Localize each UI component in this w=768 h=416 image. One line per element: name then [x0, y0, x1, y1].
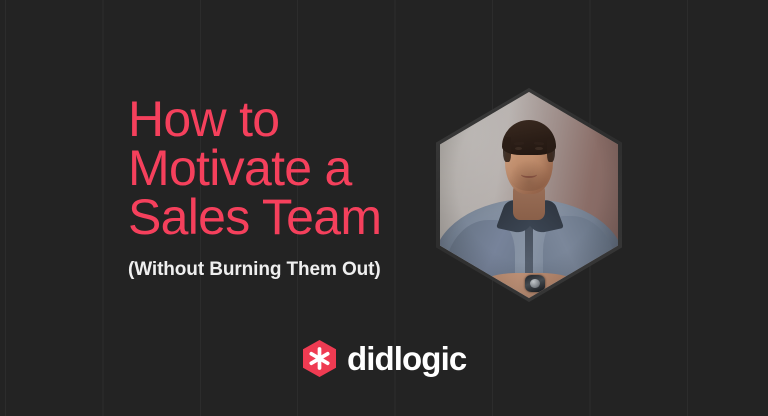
headline-line-3: Sales Team	[128, 193, 448, 242]
brand-logo-text: didlogic	[347, 342, 466, 375]
slide-canvas: How to Motivate a Sales Team (Without Bu…	[0, 0, 768, 416]
hexagon-asterisk-icon	[303, 340, 336, 377]
portrait-photo	[440, 92, 618, 298]
portrait-vignette	[440, 92, 618, 298]
brand-logo: didlogic	[303, 340, 466, 377]
headline-line-1: How to	[128, 95, 448, 144]
headline-line-2: Motivate a	[128, 144, 448, 193]
portrait-hexagon	[436, 88, 622, 302]
headline-subtitle: (Without Burning Them Out)	[128, 258, 448, 282]
headline-block: How to Motivate a Sales Team (Without Bu…	[128, 95, 448, 282]
